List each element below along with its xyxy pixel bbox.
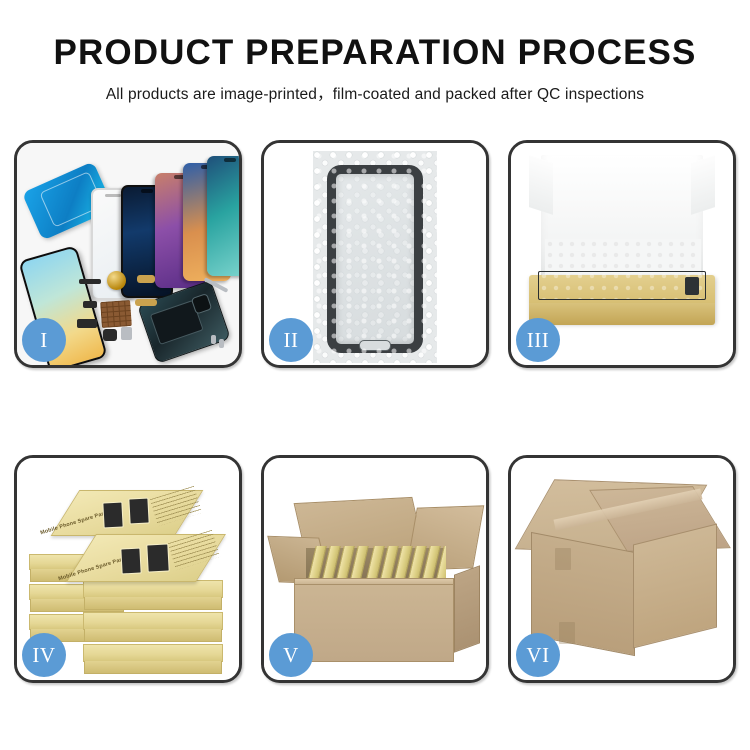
step-badge-1: I [22,318,66,362]
carton-seam-tab-icon [559,622,575,644]
speaker-coil-icon [107,271,126,290]
stacked-box-icon [83,580,223,598]
part-flex-2-icon [135,299,157,306]
part-speaker-icon [103,329,117,341]
box-window-icon [120,547,141,574]
carton-side-face-icon [454,565,480,652]
step-badge-4: IV [22,633,66,677]
phone-display-4-icon [207,156,239,276]
wrapped-product-icon [538,271,706,300]
page-title: PRODUCT PREPARATION PROCESS [0,33,750,73]
carton-right-face-icon [633,524,717,649]
kraft-box-front-icon [529,303,715,325]
part-camera-icon [77,319,97,328]
part-screw-1-icon [211,335,216,344]
part-screw-2-icon [219,339,224,348]
step-panel-6: VI [508,455,736,683]
process-steps-grid: I II III [14,140,736,683]
stacked-box-icon [83,644,223,662]
step-badge-5: V [269,633,313,677]
part-battery-icon [121,327,132,340]
product-preparation-infographic: PRODUCT PREPARATION PROCESS All products… [0,0,750,750]
carton-hand-hole-icon [555,548,571,570]
part-connector-icon [83,301,97,308]
stacked-box-icon [83,612,223,630]
step-panel-5: V [261,455,489,683]
box-window-icon [146,543,169,572]
page-subtitle: All products are image-printed，film-coat… [0,82,750,104]
screen-frame-icon [327,165,423,353]
part-strip-icon [79,279,101,284]
step-panel-1: I [14,140,242,368]
step-panel-4: Mobile Phone Spare Parts Mobile Phone Sp… [14,455,242,683]
chip-grid-icon [100,300,132,328]
step-panel-2: II [261,140,489,368]
header: PRODUCT PREPARATION PROCESS All products… [0,0,750,104]
carton-front-face-icon [294,584,454,662]
step-badge-6: VI [516,633,560,677]
box-window-icon [128,497,149,524]
box-window-icon [102,501,123,528]
step-badge-3: III [516,318,560,362]
step-badge-2: II [269,318,313,362]
bubble-wrap-icon [313,151,437,363]
part-flex-1-icon [137,275,155,283]
step-panel-3: III [508,140,736,368]
